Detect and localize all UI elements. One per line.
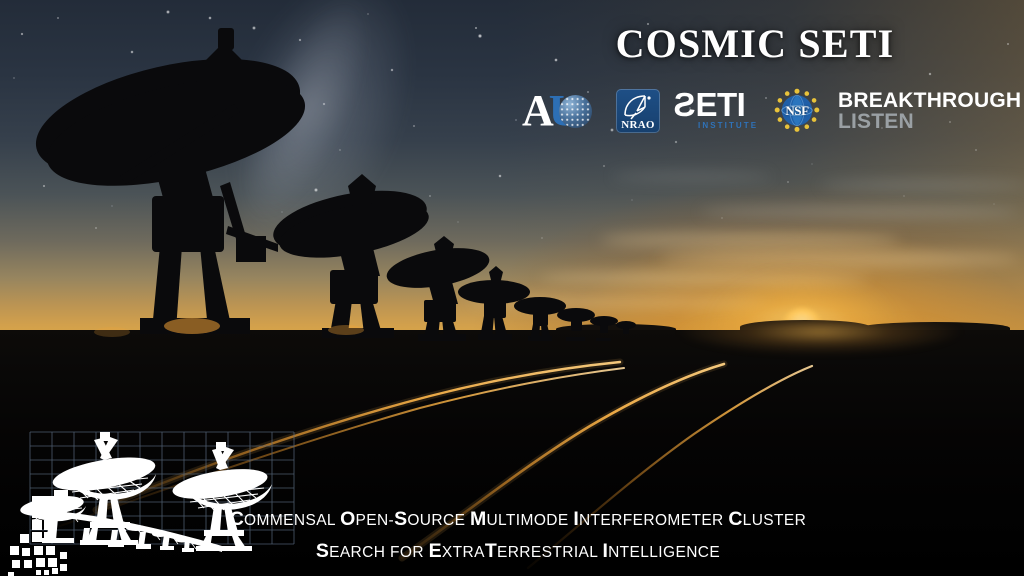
dish-antenna-second <box>268 174 433 338</box>
seti-institute-logo[interactable]: SETI INSTITUTE <box>674 88 760 134</box>
partner-logo-row: A U NRAO SETI <box>512 83 1024 139</box>
dish-antenna-foreground <box>25 28 315 334</box>
caption-line-2: SEARCH FOR EXTRATERRESTRIAL INTELLIGENCE <box>12 536 1024 568</box>
caption-initial: C <box>230 508 244 530</box>
caption-block: COMMENSAL OPEN-SOURCE MULTIMODE INTERFER… <box>0 504 1024 568</box>
caption-text: NTERFEROMETER <box>579 512 728 529</box>
caption-text: EARCH FOR <box>329 544 429 561</box>
dish-antenna-seventh <box>590 316 618 341</box>
seti-wordmark: SETI <box>674 88 760 121</box>
nrao-logo[interactable]: NRAO <box>616 89 660 133</box>
caption-text: LUSTER <box>743 512 807 529</box>
listen-word: LISTEN <box>838 111 1021 133</box>
breakthrough-word: BREAKTHROUGH <box>838 90 1021 111</box>
seti-eti: ETI <box>696 88 746 121</box>
dish-antenna-fifth <box>514 297 566 341</box>
caption-text: PEN- <box>355 512 394 529</box>
globe-icon <box>559 95 592 128</box>
caption-text: NTELLIGENCE <box>608 544 720 561</box>
caption-text: OMMENSAL <box>244 512 340 529</box>
nsf-logo[interactable]: NSF <box>774 88 820 134</box>
caption-initial: S <box>316 540 329 562</box>
dish-antenna-sixth <box>557 308 595 341</box>
page-title: COSMIC SETI <box>616 20 895 67</box>
caption-initial: E <box>429 540 442 562</box>
caption-text: XTRA <box>442 544 485 561</box>
caption-initial: T <box>485 540 497 562</box>
caption-initial: C <box>728 508 742 530</box>
nsf-label: NSF <box>774 103 820 119</box>
caption-line-1: COMMENSAL OPEN-SOURCE MULTIMODE INTERFER… <box>12 504 1024 536</box>
poster-root: COSMIC SETI A U NRAO <box>0 0 1024 576</box>
caption-initial: S <box>394 508 407 530</box>
caption-initial: M <box>470 508 486 530</box>
seti-reversed-s: S <box>674 88 696 121</box>
caption-text: ULTIMODE <box>486 512 573 529</box>
caption-text: OURCE <box>407 512 470 529</box>
aui-logo[interactable]: A U <box>522 87 602 135</box>
aui-letter-a: A <box>522 89 552 133</box>
seti-institute-subtitle: INSTITUTE <box>698 121 758 130</box>
nrao-label: NRAO <box>616 119 660 131</box>
breakthrough-listen-logo[interactable]: BREAKTHROUGH LISTEN <box>838 90 1021 133</box>
dish-antenna-eighth <box>616 321 636 334</box>
poster-title-container: COSMIC SETI <box>0 20 1024 67</box>
caption-text: ERRESTRIAL <box>497 544 602 561</box>
caption-initial: O <box>340 508 355 530</box>
